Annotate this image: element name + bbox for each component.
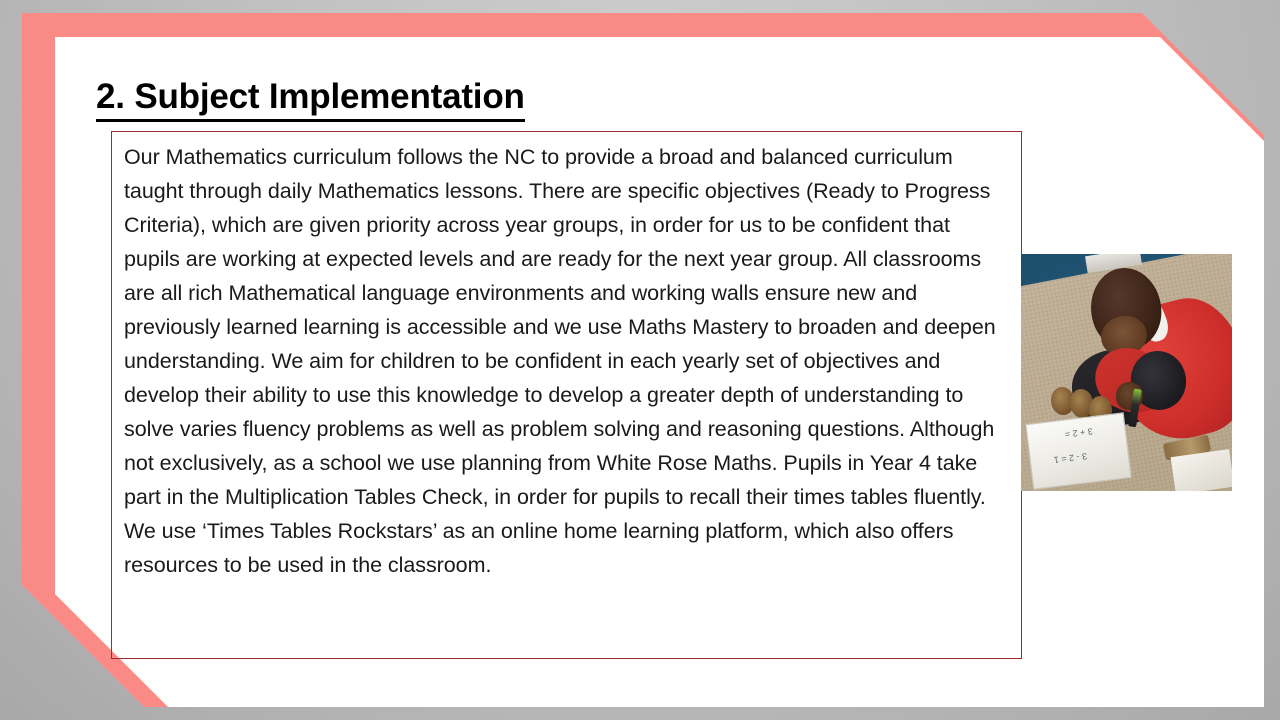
page-title: 2. Subject Implementation [96,78,525,122]
whiteboard-sum-addition: 3 + 2 = [1065,426,1094,439]
classroom-photo: 3 + 2 = 3 - 2 = 1 [1021,254,1232,491]
photo-content: 3 + 2 = 3 - 2 = 1 [1021,254,1232,491]
slide-canvas: 2. Subject Implementation Our Mathematic… [0,0,1280,720]
photo-workbook [1171,449,1232,491]
body-paragraph: Our Mathematics curriculum follows the N… [124,140,1004,582]
photo-whiteboard: 3 + 2 = 3 - 2 = 1 [1026,412,1132,490]
whiteboard-sum-subtraction: 3 - 2 = 1 [1054,451,1088,465]
